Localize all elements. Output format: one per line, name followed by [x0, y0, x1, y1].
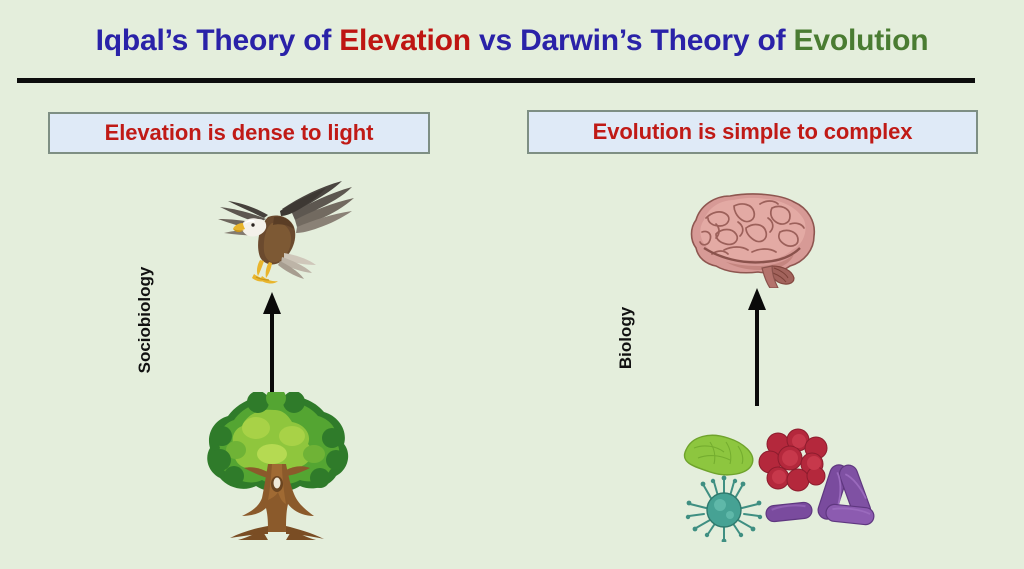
title-segment-iqbal: Iqbal’s Theory of — [96, 24, 340, 57]
caption-label-elevation: Elevation is dense to light — [105, 120, 374, 146]
arrow-shaft-left — [270, 308, 274, 392]
caption-label-evolution: Evolution is simple to complex — [593, 119, 913, 145]
title-segment-evolution: Evolution — [794, 24, 929, 57]
axis-label-sociobiology: Sociobiology — [135, 260, 155, 380]
tree-icon — [198, 392, 356, 540]
slide-canvas: Iqbal’s Theory of Elevation vs Darwin’s … — [0, 0, 1024, 569]
page-title: Iqbal’s Theory of Elevation vs Darwin’s … — [0, 24, 1024, 57]
eagle-icon — [196, 173, 368, 285]
spiky-virus-shape — [686, 476, 762, 542]
caption-box-evolution: Evolution is simple to complex — [527, 110, 978, 154]
upward-arrow-icon-left — [252, 292, 292, 392]
caption-box-elevation: Elevation is dense to light — [48, 112, 430, 154]
red-cocci-cluster-shape — [759, 429, 827, 491]
title-segment-darwin: vs Darwin’s Theory of — [471, 24, 794, 57]
arrow-shaft-right — [755, 304, 759, 406]
brain-icon — [686, 188, 826, 288]
purple-rod-shape — [765, 502, 812, 523]
upward-arrow-icon-right — [737, 288, 777, 406]
microbes-icon — [666, 420, 882, 542]
green-bacillus-shape — [684, 435, 752, 475]
title-divider — [17, 78, 975, 83]
axis-label-biology: Biology — [616, 290, 636, 386]
title-segment-elevation: Elevation — [339, 24, 471, 57]
